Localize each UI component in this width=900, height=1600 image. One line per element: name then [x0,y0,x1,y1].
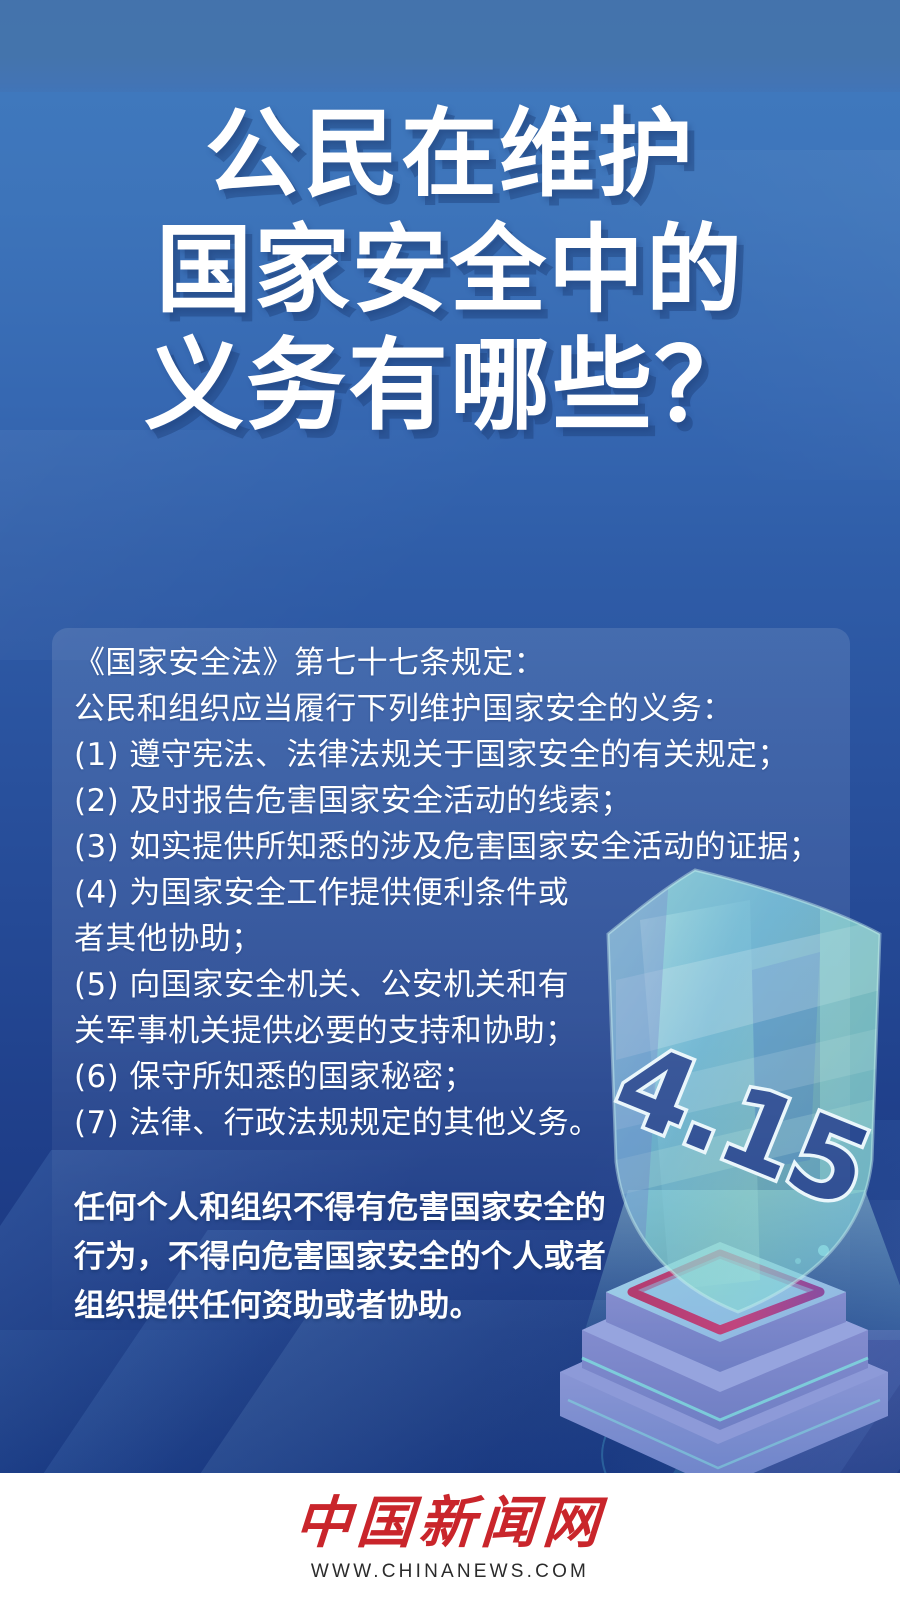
law-line: (2) 及时报告危害国家安全活动的线索； [74,778,864,824]
emphasis-text-block: 任何个人和组织不得有危害国家安全的 行为，不得向危害国家安全的个人或者 组织提供… [74,1184,654,1331]
law-line: (3) 如实提供所知悉的涉及危害国家安全活动的证据； [74,824,864,870]
emphasis-line: 组织提供任何资助或者协助。 [74,1282,654,1331]
brand-logo: 中国新闻网 [293,1491,607,1555]
law-line: 关军事机关提供必要的支持和协助； [74,1008,864,1054]
title-line-3: 义务有哪些？ [0,328,900,444]
background-top-band [0,0,900,92]
law-line: 《国家安全法》第七十七条规定： [74,640,864,686]
poster-root: 4.15 公民在维护 国家安全中的 义务有哪些？ 《国家安全法》第七十七条规定：… [0,0,900,1600]
law-line: (4) 为国家安全工作提供便利条件或 [74,870,864,916]
law-text-block: 《国家安全法》第七十七条规定： 公民和组织应当履行下列维护国家安全的义务： (1… [74,640,864,1146]
law-line: (6) 保守所知悉的国家秘密； [74,1054,864,1100]
brand-website: WWW.CHINANEWS.COM [311,1561,589,1583]
page-title: 公民在维护 国家安全中的 义务有哪些？ [0,96,900,444]
title-line-1: 公民在维护 [0,96,900,212]
law-line: (5) 向国家安全机关、公安机关和有 [74,962,864,1008]
law-line: 者其他协助； [74,916,864,962]
footer: 中国新闻网 WWW.CHINANEWS.COM [0,1473,900,1600]
emphasis-line: 任何个人和组织不得有危害国家安全的 [74,1184,654,1233]
title-line-2: 国家安全中的 [0,212,900,328]
law-line: (7) 法律、行政法规规定的其他义务。 [74,1100,864,1146]
law-line: 公民和组织应当履行下列维护国家安全的义务： [74,686,864,732]
law-line: (1) 遵守宪法、法律法规关于国家安全的有关规定； [74,732,864,778]
emphasis-line: 行为，不得向危害国家安全的个人或者 [74,1233,654,1282]
